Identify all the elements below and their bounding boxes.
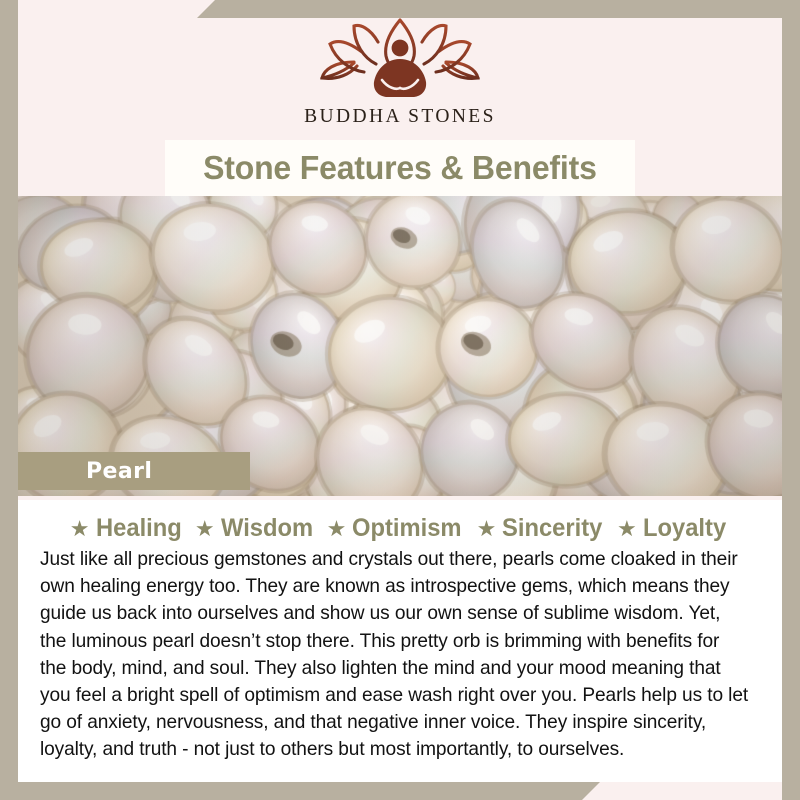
stone-name-tag: Pearl <box>18 452 250 490</box>
star-icon: ★ <box>617 518 637 540</box>
headline-banner: Stone Features & Benefits <box>165 140 635 196</box>
content-panel: ★Healing★Wisdom★Optimism★Sincerity★Loyal… <box>18 500 782 782</box>
pearl-photo-canvas <box>18 196 782 496</box>
star-icon: ★ <box>327 518 347 540</box>
poster-root: BUDDHA STONES Stone Features & Benefits … <box>0 0 800 800</box>
brand-logo-block: BUDDHA STONES <box>0 18 800 146</box>
benefit-label: Loyalty <box>643 514 726 543</box>
stone-name-label: Pearl <box>86 459 152 484</box>
benefit-item: ★Sincerity <box>468 514 608 543</box>
lotus-meditation-icon <box>316 18 484 104</box>
brand-name: BUDDHA STONES <box>304 106 496 128</box>
benefit-item: ★Healing <box>70 514 186 543</box>
benefit-label: Wisdom <box>221 514 313 543</box>
star-icon: ★ <box>195 518 215 540</box>
star-icon: ★ <box>70 518 90 540</box>
benefit-item: ★Loyalty <box>608 514 730 543</box>
benefits-row: ★Healing★Wisdom★Optimism★Sincerity★Loyal… <box>40 514 760 543</box>
benefit-label: Sincerity <box>502 514 602 543</box>
stone-description: Just like all precious gemstones and cry… <box>40 546 749 764</box>
benefit-item: ★Optimism <box>318 514 468 543</box>
page-title: Stone Features & Benefits <box>203 149 597 187</box>
benefit-item: ★Wisdom <box>186 514 318 543</box>
hero-image <box>18 196 782 496</box>
star-icon: ★ <box>477 518 497 540</box>
benefit-label: Healing <box>96 514 182 543</box>
benefit-label: Optimism <box>352 514 462 543</box>
